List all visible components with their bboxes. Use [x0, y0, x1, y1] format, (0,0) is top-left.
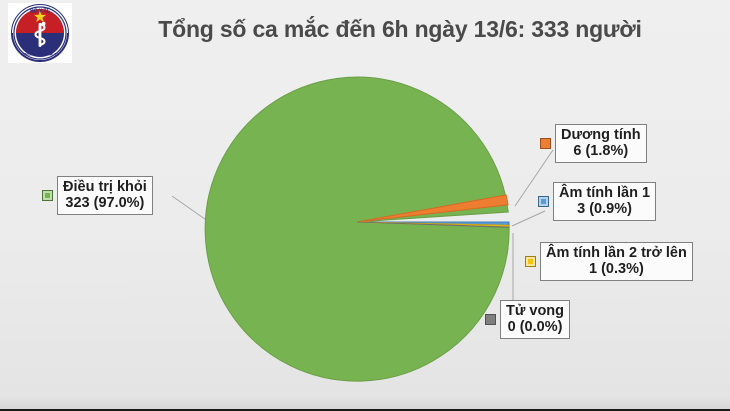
callout-positive[interactable]: Dương tính 6 (1.8%): [540, 124, 647, 163]
callout-box-deaths: Tử vong 0 (0.0%): [500, 300, 570, 339]
callout-deaths[interactable]: Tử vong 0 (0.0%): [485, 300, 570, 339]
callout-label-negative-test-1: Âm tính lần 1: [559, 185, 650, 201]
callout-negative-test-1[interactable]: Âm tính lần 1 3 (0.9%): [538, 182, 656, 221]
callout-negative-test-2-plus[interactable]: Âm tính lần 2 trở lên 1 (0.3%): [525, 242, 693, 281]
pie-slices: [205, 77, 509, 381]
callout-box-recovered: Điều trị khỏi 323 (97.0%): [57, 176, 153, 215]
callout-value-negative-test-1: 3 (0.9%): [559, 201, 650, 217]
legend-swatch-recovered: [42, 190, 53, 201]
callout-box-positive: Dương tính 6 (1.8%): [555, 124, 647, 163]
callout-recovered[interactable]: Điều trị khỏi 323 (97.0%): [42, 176, 153, 215]
callout-box-negative-test-2-plus: Âm tính lần 2 trở lên 1 (0.3%): [540, 242, 693, 281]
callout-value-deaths: 0 (0.0%): [506, 319, 564, 335]
callout-label-negative-test-2-plus: Âm tính lần 2 trở lên: [546, 245, 687, 261]
legend-swatch-deaths: [485, 314, 496, 325]
callout-label-positive: Dương tính: [561, 127, 641, 143]
callout-label-recovered: Điều trị khỏi: [63, 179, 147, 195]
callout-value-recovered: 323 (97.0%): [63, 195, 147, 211]
slide-canvas: BỘ Y TẾ MINISTRY OF HEALTH Tổng số ca mắ…: [0, 0, 730, 411]
legend-swatch-negative-test-1: [538, 196, 549, 207]
legend-swatch-positive: [540, 138, 551, 149]
callout-value-negative-test-2-plus: 1 (0.3%): [546, 261, 687, 277]
callout-box-negative-test-1: Âm tính lần 1 3 (0.9%): [553, 182, 656, 221]
pie-slice-recovered[interactable]: [205, 77, 509, 381]
callout-label-deaths: Tử vong: [506, 303, 564, 319]
legend-swatch-negative-test-2-plus: [525, 256, 536, 267]
callout-value-positive: 6 (1.8%): [561, 143, 641, 159]
